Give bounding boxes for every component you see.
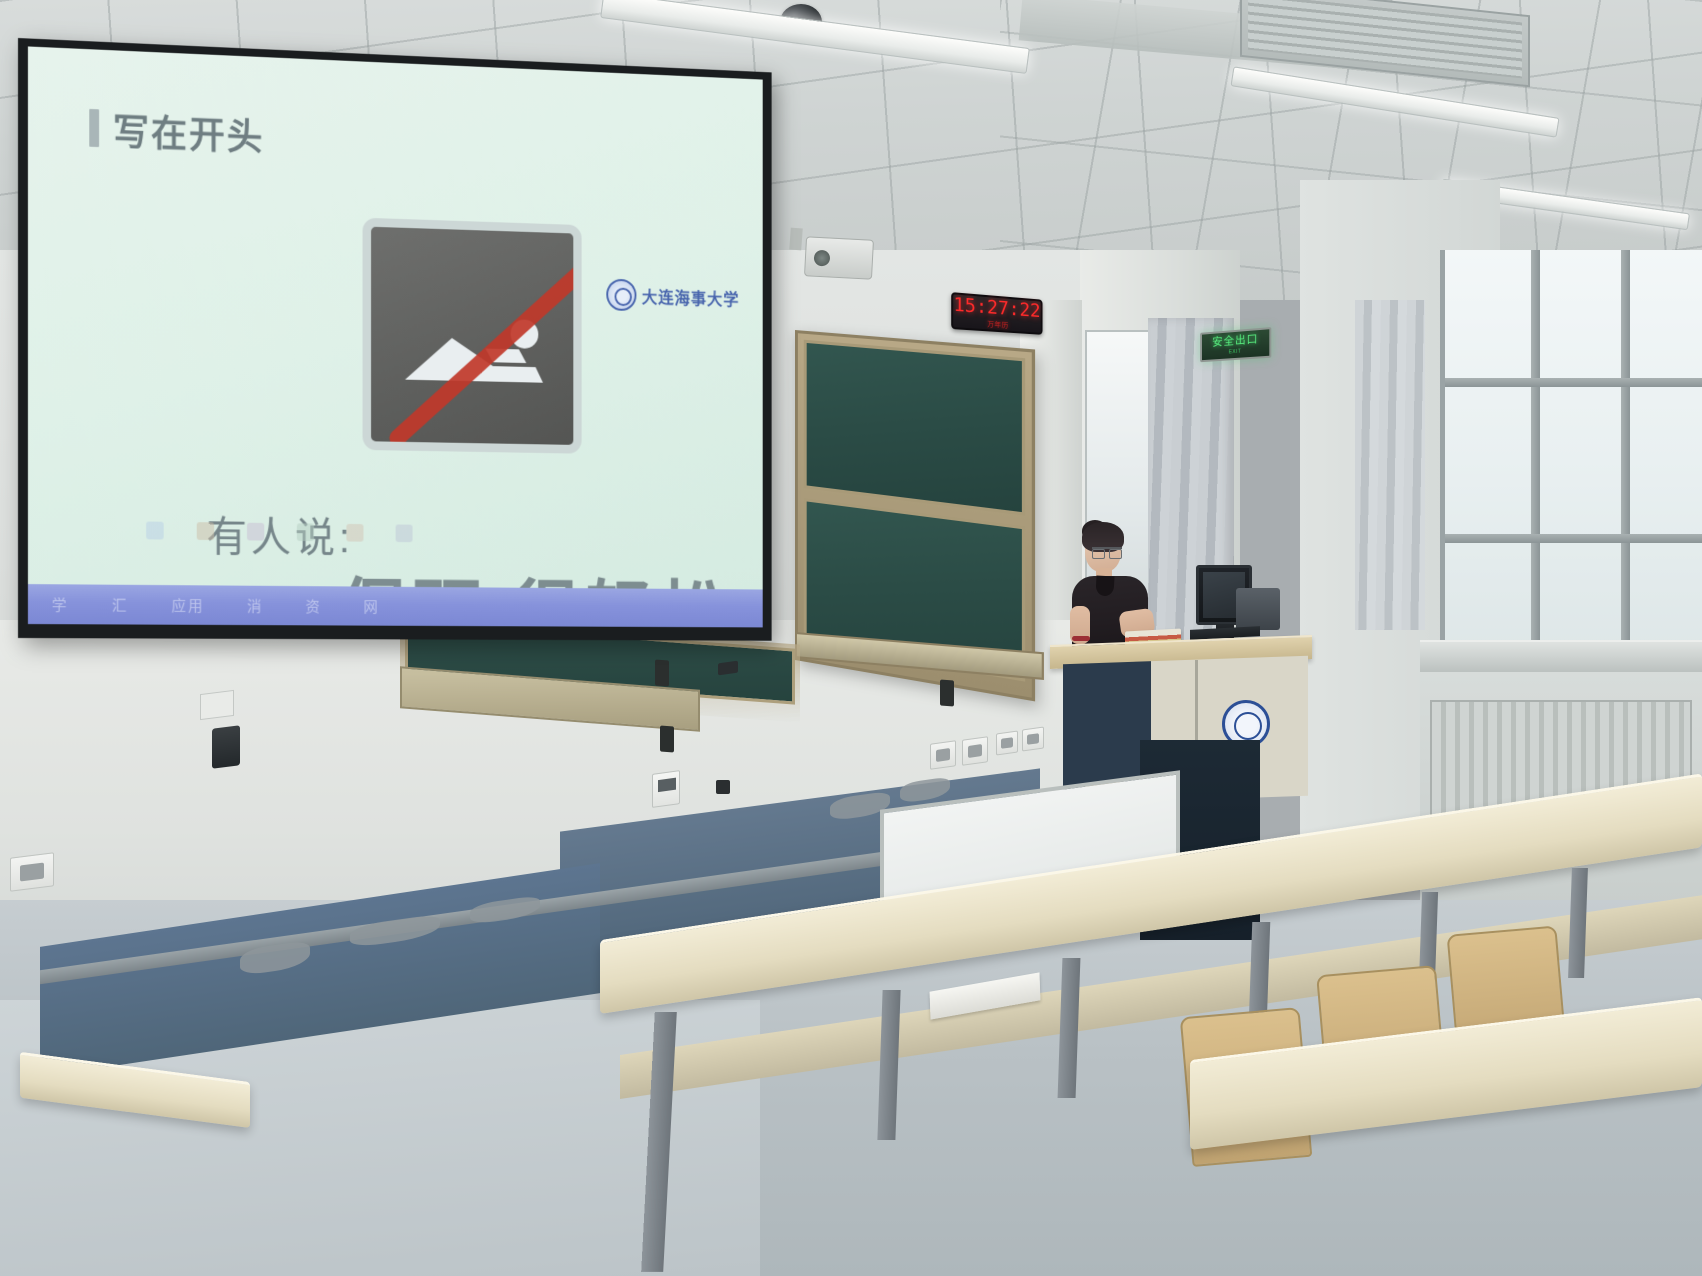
digital-clock: 15:27:22 万年历 bbox=[951, 292, 1042, 335]
window-mullion bbox=[1445, 534, 1702, 543]
window-mullion bbox=[1621, 250, 1630, 670]
power-outlet[interactable] bbox=[930, 740, 956, 770]
taskbar-item[interactable]: 网 bbox=[364, 596, 380, 617]
desktop-icon bbox=[146, 522, 164, 540]
wall-mounted-box bbox=[212, 725, 240, 768]
board-clip bbox=[940, 680, 954, 707]
window-sill bbox=[1420, 640, 1702, 674]
clock-time-display: 15:27:22 bbox=[953, 295, 1040, 321]
title-accent-bar bbox=[89, 109, 99, 147]
wall-plate bbox=[200, 690, 234, 720]
taskbar-item[interactable]: 汇 bbox=[112, 594, 129, 615]
slide-title: 写在开头 bbox=[113, 102, 264, 161]
wall-sensor bbox=[716, 780, 730, 794]
university-watermark: 大连海事大学 bbox=[606, 279, 739, 314]
red-prohibition-slash-icon bbox=[363, 218, 582, 454]
desktop-icon bbox=[297, 523, 314, 541]
windows-taskbar[interactable]: 学 汇 应用 消 资 网 bbox=[28, 584, 763, 627]
exit-sign-label-en: EXIT bbox=[1229, 348, 1242, 355]
curtain bbox=[1355, 300, 1425, 630]
taskbar-item[interactable]: 消 bbox=[247, 595, 263, 616]
desktop-icon-row bbox=[146, 522, 412, 543]
projection-surface: 写在开头 大连海事大学 有人说: bbox=[28, 46, 763, 627]
window-mullion bbox=[1445, 378, 1702, 387]
slide-image-no-lying-sign bbox=[363, 218, 582, 454]
glasses-icon bbox=[1092, 547, 1122, 555]
power-outlet[interactable] bbox=[10, 852, 54, 891]
projection-screen[interactable]: 写在开头 大连海事大学 有人说: bbox=[18, 38, 772, 641]
emergency-exit-sign: 安全出口 EXIT bbox=[1200, 327, 1271, 362]
taskbar-item[interactable]: 资 bbox=[306, 595, 322, 616]
board-clip bbox=[660, 726, 674, 753]
clock-label: 万年历 bbox=[987, 319, 1008, 330]
taskbar-item[interactable]: 应用 bbox=[172, 595, 205, 616]
presentation-slide: 写在开头 大连海事大学 有人说: bbox=[28, 46, 763, 589]
desktop-icon bbox=[247, 523, 264, 541]
projector-mount bbox=[789, 228, 803, 251]
desktop-icon bbox=[346, 524, 363, 542]
taskbar-item[interactable]: 学 bbox=[52, 594, 69, 615]
desktop-icon bbox=[197, 522, 214, 540]
power-outlet[interactable] bbox=[996, 730, 1018, 755]
university-name: 大连海事大学 bbox=[642, 284, 740, 311]
thermostat[interactable] bbox=[652, 770, 680, 808]
main-window bbox=[1440, 250, 1702, 670]
presenter-wristband bbox=[1072, 636, 1090, 641]
slide-title-row: 写在开头 bbox=[89, 101, 264, 161]
projector bbox=[804, 236, 874, 280]
classroom-scene: 15:27:22 万年历 安全出口 EXIT 写在开头 大连海事大学 bbox=[0, 0, 1702, 1276]
desktop-icon bbox=[396, 524, 413, 542]
podium-equipment bbox=[1236, 588, 1280, 630]
exit-sign-label-cn: 安全出口 bbox=[1212, 334, 1258, 348]
power-outlet[interactable] bbox=[1022, 726, 1044, 751]
board-clip bbox=[655, 660, 669, 687]
window-mullion bbox=[1531, 250, 1540, 670]
chalkboard-panel-upper bbox=[804, 340, 1025, 516]
university-seal-icon bbox=[606, 279, 636, 311]
power-outlet[interactable] bbox=[962, 736, 988, 766]
